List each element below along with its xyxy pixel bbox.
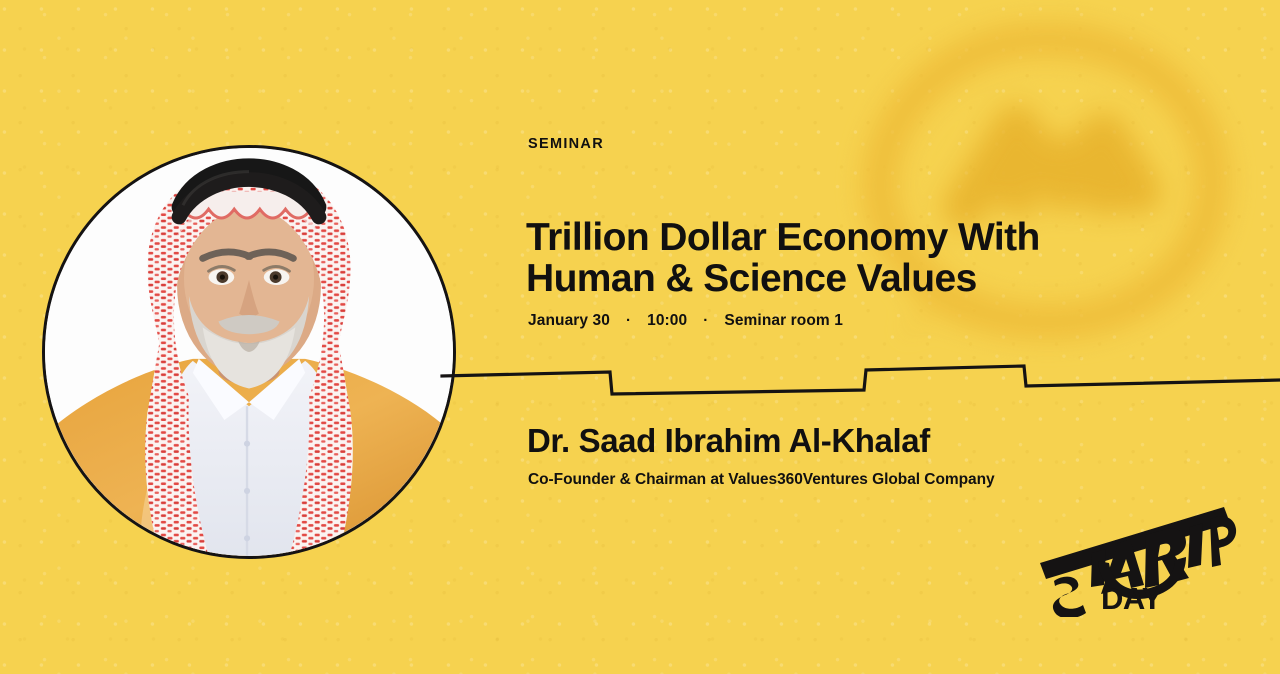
event-meta: January 30 · 10:00 · Seminar room 1 <box>528 312 843 330</box>
speech-bubble-chart-watermark <box>840 10 1260 380</box>
event-announcement-banner: SEMINAR Trillion Dollar Economy With Hum… <box>0 0 1280 674</box>
event-title: Trillion Dollar Economy With Human & Sci… <box>526 218 1126 299</box>
speaker-name: Dr. Saad Ibrahim Al-Khalaf <box>527 424 930 457</box>
meta-separator-1: · <box>626 313 631 328</box>
event-date: January 30 <box>528 312 610 330</box>
speaker-portrait-image <box>45 148 453 556</box>
meta-separator-2: · <box>703 313 708 328</box>
logo-day-text: DAY <box>1101 581 1163 616</box>
event-title-line-2: Human & Science Values <box>526 259 1126 300</box>
speaker-role: Co-Founder & Chairman at Values360Ventur… <box>528 472 995 488</box>
speaker-portrait <box>42 145 456 559</box>
stepped-connector-line <box>440 352 1280 402</box>
startup-day-logo: DAY <box>1038 487 1238 617</box>
event-time: 10:00 <box>647 312 687 330</box>
seminar-eyebrow-label: SEMINAR <box>528 137 604 152</box>
event-location: Seminar room 1 <box>724 312 843 330</box>
event-title-line-1: Trillion Dollar Economy With <box>526 218 1126 259</box>
